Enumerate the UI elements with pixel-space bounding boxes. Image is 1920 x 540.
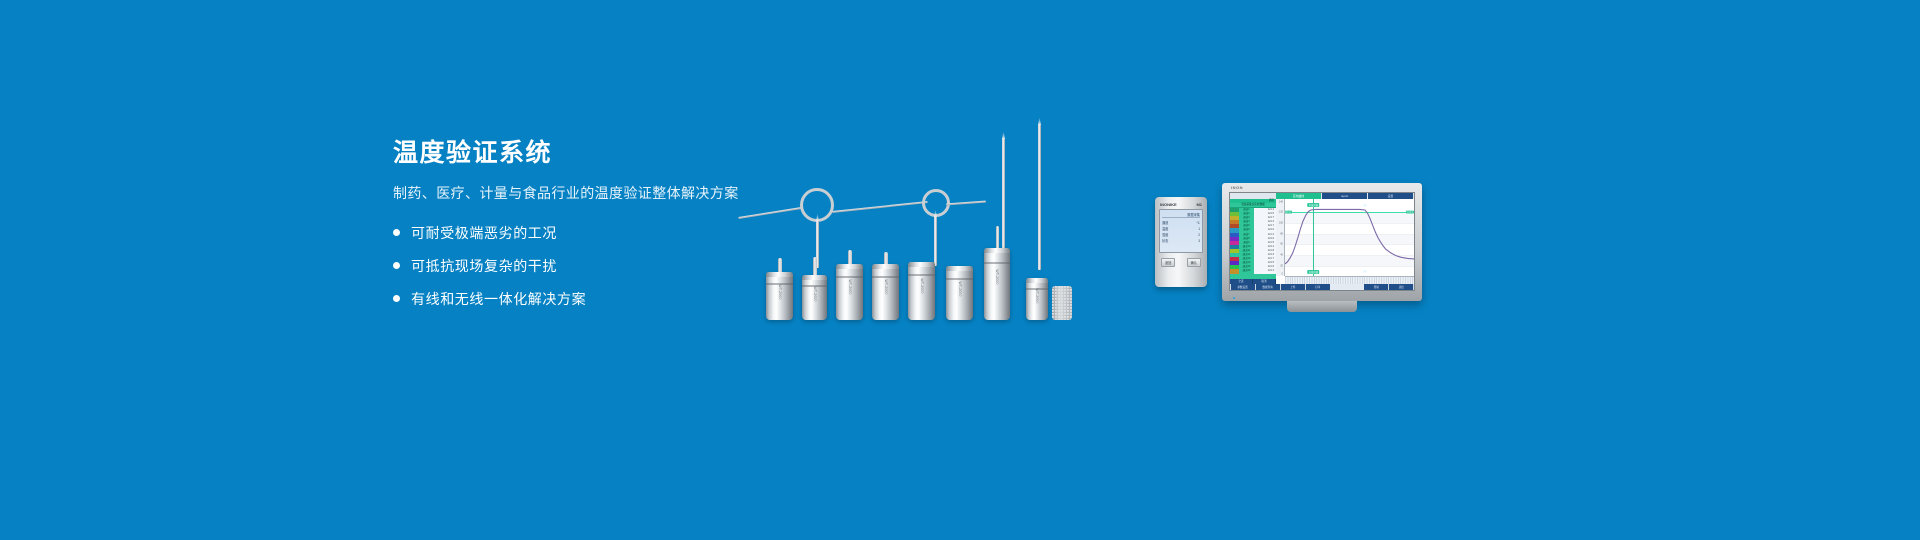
software-body: 通道 温度采集点实时数据 通道1121.4 通道2121.5 通道3121.7 … (1230, 199, 1414, 284)
logger-label: WT-2000 (813, 287, 817, 302)
software-bottom-toolbar: 参数设置 数据查询 上传 打印 帮助 退出 (1230, 284, 1414, 290)
marker-setpoint-right[interactable]: 121.0 (1406, 210, 1414, 213)
data-logger-4: WT-2000 (872, 264, 899, 320)
logger-band (872, 276, 899, 278)
sintered-filter-probe (1052, 286, 1072, 320)
logger-cap (766, 272, 793, 277)
logger-band (984, 262, 1010, 264)
feature-label: 可耐受极端恶劣的工况 (411, 223, 557, 243)
channel-sidebar: 通道 温度采集点实时数据 通道1121.4 通道2121.5 通道3121.7 … (1230, 199, 1276, 284)
exit-button[interactable]: 退出 (1389, 284, 1413, 290)
logger-cap (984, 248, 1010, 253)
data-logger-1: WT-2000 (766, 272, 793, 320)
logger-band (908, 274, 935, 276)
monitor-brand-label: INON (1231, 185, 1243, 190)
row-value: 3 (1198, 238, 1200, 244)
logger-label: WT-2000 (1035, 288, 1039, 303)
data-logger-7: WT-2000 (984, 248, 1010, 320)
handheld-keypad: 返回 确认 (1159, 258, 1203, 267)
logger-cap (908, 262, 935, 267)
marker-setpoint-left[interactable]: 121.0 (1285, 210, 1292, 213)
handheld-model-label: M1 (1196, 202, 1202, 207)
logger-stem (813, 257, 817, 275)
coil-probe-2-stem (934, 216, 937, 266)
handheld-back-button[interactable]: 返回 (1161, 258, 1175, 267)
data-logger-3: WT-2000 (836, 264, 863, 320)
logger-stem (996, 226, 999, 248)
y-tick-label: 100 (1279, 221, 1283, 224)
feature-label: 可抵抗现场复杂的干扰 (411, 256, 557, 276)
handheld-brand-label: INONIKE (1160, 202, 1177, 207)
toolbar-gap (1330, 284, 1364, 290)
y-tick-label: 20 (1280, 264, 1283, 267)
channel-value: 121.4 (1254, 269, 1276, 273)
chart-plot-area: 升温开始 灭菌开始 121.0 121.0 F0 F0 (1285, 199, 1414, 276)
logger-label: WT-2000 (920, 278, 924, 293)
temperature-chart: 140 120 100 80 60 40 20 0 (1276, 199, 1414, 284)
y-tick-label: 80 (1280, 232, 1283, 235)
logger-cap (872, 264, 899, 269)
bullet-dot-icon (393, 295, 400, 302)
logger-cap (946, 266, 973, 271)
logger-label: WT-2000 (995, 270, 999, 285)
handheld-data-row: 状态 3 (1162, 238, 1200, 244)
hero-banner: 温度验证系统 制药、医疗、计量与食品行业的温度验证整体解决方案 可耐受极端恶劣的… (0, 0, 1920, 540)
logger-band (836, 276, 863, 278)
data-logger-8: WT-2000 (1026, 278, 1048, 320)
y-tick-label: 120 (1279, 211, 1283, 214)
monitor-stand (1287, 301, 1357, 312)
logger-cap (802, 275, 827, 280)
data-logger-5: WT-2000 (908, 262, 935, 320)
wire-probe-lead (832, 201, 928, 213)
bullet-dot-icon (393, 262, 400, 269)
logger-label: WT-2000 (848, 280, 852, 295)
data-query-button[interactable]: 数据查询 (1256, 284, 1280, 290)
logger-label: WT-2000 (778, 285, 782, 300)
logger-stem (884, 252, 888, 264)
wire-probe-lead (946, 201, 986, 206)
channel-color-swatch (1230, 269, 1239, 273)
upload-button[interactable]: 上传 (1281, 284, 1305, 290)
logger-label: WT-2000 (958, 281, 962, 296)
product-photo-group: WT-2000 WT-2000 WT-2000 WT-2000 WT-2000 (700, 120, 1220, 320)
data-logger-2: WT-2000 (802, 275, 827, 320)
y-tick-label: 40 (1280, 254, 1283, 257)
monitor-screen: 实时曲线 report 设置 通道 温度采集点实时数据 通道1121.4 通道2… (1229, 192, 1415, 291)
feature-label: 有线和无线一体化解决方案 (411, 289, 586, 309)
logger-cap (836, 264, 863, 269)
logger-band (946, 278, 973, 280)
bullet-dot-icon (393, 229, 400, 236)
logger-label: WT-2000 (884, 280, 888, 295)
channel-name: 通道16 (1239, 269, 1254, 273)
row-label: 状态 (1162, 238, 1168, 244)
chart-y-axis: 140 120 100 80 60 40 20 0 (1276, 199, 1285, 276)
chart-x-axis (1285, 276, 1414, 284)
y-tick-label: 140 (1279, 201, 1283, 204)
channel-row-list: 通道1121.4 通道2121.5 通道3121.7 通道4121.3 通道51… (1230, 208, 1276, 279)
handheld-confirm-button[interactable]: 确认 (1187, 258, 1201, 267)
handheld-screen-title: 数据采集 (1162, 212, 1200, 218)
marker-sterilize-start[interactable]: 灭菌开始 (1308, 270, 1320, 274)
chart-secondary-label: F0 (1364, 271, 1367, 274)
print-button[interactable]: 打印 (1306, 284, 1330, 290)
handheld-brand-row: INONIKE M1 (1159, 202, 1203, 209)
chart-secondary-label: F0 (1364, 204, 1367, 207)
y-tick-label: 60 (1280, 243, 1283, 246)
needle-probe-long-2 (1038, 124, 1041, 270)
y-tick-label: 0 (1282, 272, 1283, 275)
logger-stem (848, 250, 852, 264)
logger-cap (1026, 278, 1048, 283)
handheld-reader-device: INONIKE M1 数据采集 通道 ℃ 温度 1 湿度 2 状态 3 返回 (1155, 197, 1207, 287)
monitor-device: INON 实时曲线 report 设置 通道 温度采集点实时数据 通道1121.… (1222, 183, 1422, 301)
data-logger-6: WT-2000 (946, 266, 973, 320)
logger-stem (778, 258, 782, 272)
handheld-screen: 数据采集 通道 ℃ 温度 1 湿度 2 状态 3 (1159, 209, 1203, 253)
param-settings-button[interactable]: 参数设置 (1231, 284, 1255, 290)
power-led-icon (1233, 297, 1235, 299)
table-row[interactable]: 通道16121.4 (1230, 269, 1276, 273)
wire-probe-lead (738, 207, 802, 219)
temperature-curve (1285, 199, 1414, 276)
help-button[interactable]: 帮助 (1364, 284, 1388, 290)
marker-heat-start[interactable]: 升温开始 (1308, 203, 1320, 207)
